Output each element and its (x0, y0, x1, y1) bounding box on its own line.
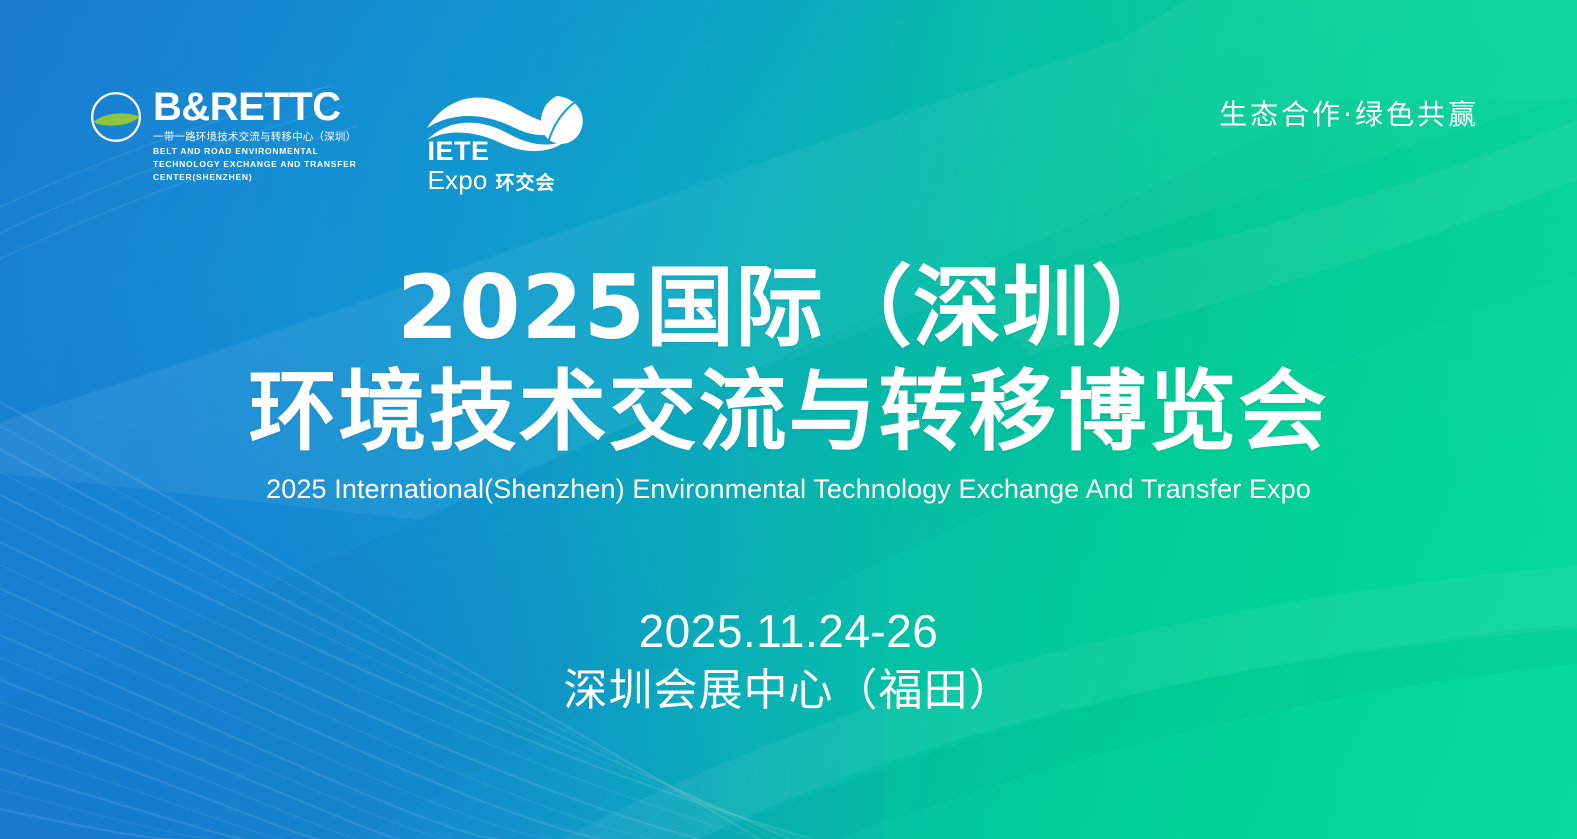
subtitle-english: 2025 International(Shenzhen) Environment… (0, 473, 1577, 505)
event-date: 2025.11.24-26 (0, 606, 1577, 658)
event-venue: 深圳会展中心（福田） (0, 666, 1577, 715)
title-line-2: 环境技术交流与转移博览会 (0, 366, 1577, 458)
iete-expo-logo[interactable]: IETE Expo 环交会 (425, 88, 593, 188)
tagline: 生态合作·绿色共赢 (1219, 101, 1479, 129)
event-banner: B&RETTC 一带一路环境技术交流与转移中心（深圳） BELT AND ROA… (0, 0, 1577, 839)
brettc-name-en-line3: CENTER(SHENZHEN) (153, 171, 356, 183)
title-line-1: 2025国际（深圳） (0, 262, 1577, 354)
iete-word-cn: 环交会 (496, 174, 556, 193)
brettc-name-cn: 一带一路环境技术交流与转移中心（深圳） (153, 130, 356, 144)
logo-row: B&RETTC 一带一路环境技术交流与转移中心（深圳） BELT AND ROA… (88, 86, 593, 188)
event-meta-block: 2025.11.24-26 深圳会展中心（福田） (0, 606, 1577, 715)
brettc-name-en-line2: TECHNOLOGY EXCHANGE AND TRANSFER (153, 158, 356, 170)
brettc-logo[interactable]: B&RETTC 一带一路环境技术交流与转移中心（深圳） BELT AND ROA… (88, 86, 356, 183)
title-block: 2025国际（深圳） 环境技术交流与转移博览会 2025 Internation… (0, 262, 1577, 505)
brettc-name-en-line1: BELT AND ROAD ENVIRONMENTAL (153, 145, 356, 157)
iete-abbr: IETE (427, 138, 555, 165)
brettc-wordmark: B&RETTC (153, 87, 356, 127)
iete-word: Expo (427, 167, 487, 193)
circle-globe-icon (88, 89, 144, 145)
